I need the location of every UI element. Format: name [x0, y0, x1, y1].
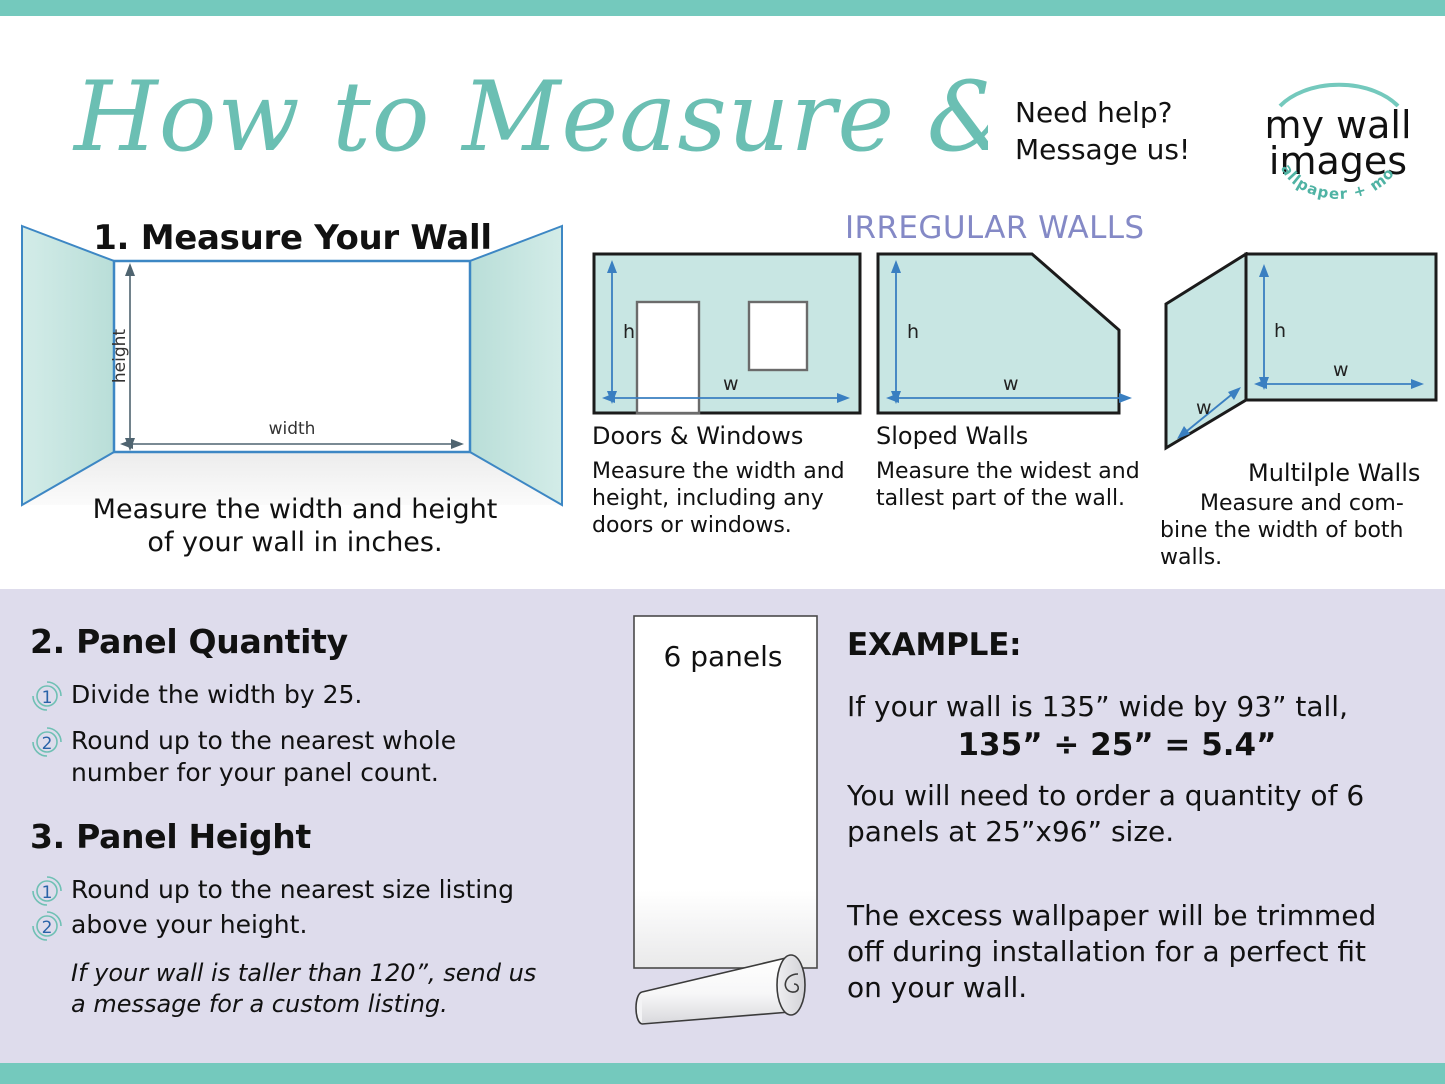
- section-measure-your-wall: height width 1. Measure Your Wall Measur…: [0, 206, 585, 590]
- section1-heading: 1. Measure Your Wall: [0, 218, 585, 258]
- help-line-2: Message us!: [1015, 131, 1215, 168]
- column-description: Measure the width and height, including …: [592, 459, 864, 539]
- h-label: h: [907, 321, 919, 343]
- multiple-walls-diagram: h w w: [1160, 252, 1445, 452]
- bullet-text: Round up to the nearest size listing: [71, 874, 514, 906]
- page-title-text: How to Measure & Order: [72, 61, 988, 173]
- example-heading: EXAMPLE:: [847, 627, 1021, 663]
- column-description: Measure and com- bine the width of both …: [1160, 491, 1445, 571]
- example-formula: 135” ÷ 25” = 5.4”: [847, 727, 1387, 763]
- roll-end-ellipse: [777, 955, 805, 1015]
- w-label-front: w: [1333, 359, 1349, 381]
- numbered-circle-icon: 1: [30, 679, 64, 713]
- numbered-circle-icon: 2: [30, 909, 64, 943]
- column-title: Doors & Windows: [592, 422, 864, 450]
- header: How to Measure & Order Need help? Messag…: [0, 16, 1445, 206]
- column-description-line-1: Measure and com-: [1200, 491, 1404, 518]
- numbered-circle-icon: 1: [30, 874, 64, 908]
- example-line-1: If your wall is 135” wide by 93” tall,: [847, 690, 1407, 723]
- sloped-wall-diagram: h w: [876, 252, 1144, 415]
- step3-bullet-2: 2 above your height.: [30, 909, 307, 943]
- help-prompt: Need help? Message us!: [1015, 94, 1215, 168]
- h-label: h: [1274, 320, 1286, 342]
- numbered-circle-icon: 2: [30, 725, 64, 759]
- roll-curl-left-cap: [636, 992, 642, 1024]
- section1-caption-line-2: of your wall in inches.: [30, 527, 560, 560]
- doors-windows-diagram: h w: [592, 252, 862, 415]
- bullet-number: 2: [42, 918, 53, 938]
- page-title: How to Measure & Order: [68, 58, 988, 178]
- irregular-column-doors-windows: h w Doors & Windows Measure the width an…: [592, 252, 864, 539]
- step3-heading: 3. Panel Height: [30, 817, 311, 856]
- step2-heading: 2. Panel Quantity: [30, 622, 348, 661]
- column-description: Measure the widest and tallest part of t…: [876, 459, 1146, 513]
- bullet-number: 2: [42, 734, 53, 754]
- w-label: w: [1003, 373, 1019, 395]
- example-line-2: You will need to order a quantity of 6 p…: [847, 778, 1392, 850]
- bullet-text: Round up to the nearest whole number for…: [71, 725, 541, 788]
- height-label: height: [110, 329, 130, 384]
- column-description-rest: bine the width of both walls.: [1160, 518, 1403, 570]
- bullet-number: 1: [42, 688, 53, 708]
- window-rect: [749, 302, 807, 370]
- bullet-number: 1: [42, 883, 53, 903]
- step2-bullet-1: 1 Divide the width by 25.: [30, 679, 362, 713]
- width-label: width: [269, 419, 316, 439]
- irregular-column-sloped-walls: h w Sloped Walls Measure the widest and …: [876, 252, 1146, 513]
- door-rect: [637, 302, 699, 413]
- brand-logo: my wall images wallpaper + more: [1258, 66, 1418, 211]
- bottom-accent-band: [0, 1063, 1445, 1084]
- column-title: Sloped Walls: [876, 422, 1146, 450]
- w-label-side: w: [1196, 397, 1212, 419]
- bullet-text: Divide the width by 25.: [71, 679, 362, 711]
- step2-bullet-2: 2 Round up to the nearest whole number f…: [30, 725, 541, 788]
- step3-bullet-1: 1 Round up to the nearest size listing: [30, 874, 514, 908]
- column-title: Multilple Walls: [1248, 459, 1445, 487]
- top-accent-band: [0, 0, 1445, 16]
- h-label: h: [623, 321, 635, 343]
- wallpaper-roll-illustration: 6 panels: [628, 612, 843, 1032]
- help-line-1: Need help?: [1015, 94, 1215, 131]
- roll-label: 6 panels: [628, 640, 818, 673]
- step3-note: If your wall is taller than 120”, send u…: [71, 958, 551, 1019]
- bullet-text: above your height.: [71, 909, 307, 941]
- irregular-walls-heading: IRREGULAR WALLS: [845, 210, 1145, 246]
- section1-caption-line-1: Measure the width and height: [30, 494, 560, 527]
- section1-caption: Measure the width and height of your wal…: [30, 494, 560, 560]
- example-line-3: The excess wallpaper will be trimmed off…: [847, 898, 1392, 1005]
- irregular-column-multiple-walls: h w w Multilple Walls Measure and com- b…: [1160, 252, 1445, 571]
- w-label: w: [723, 373, 739, 395]
